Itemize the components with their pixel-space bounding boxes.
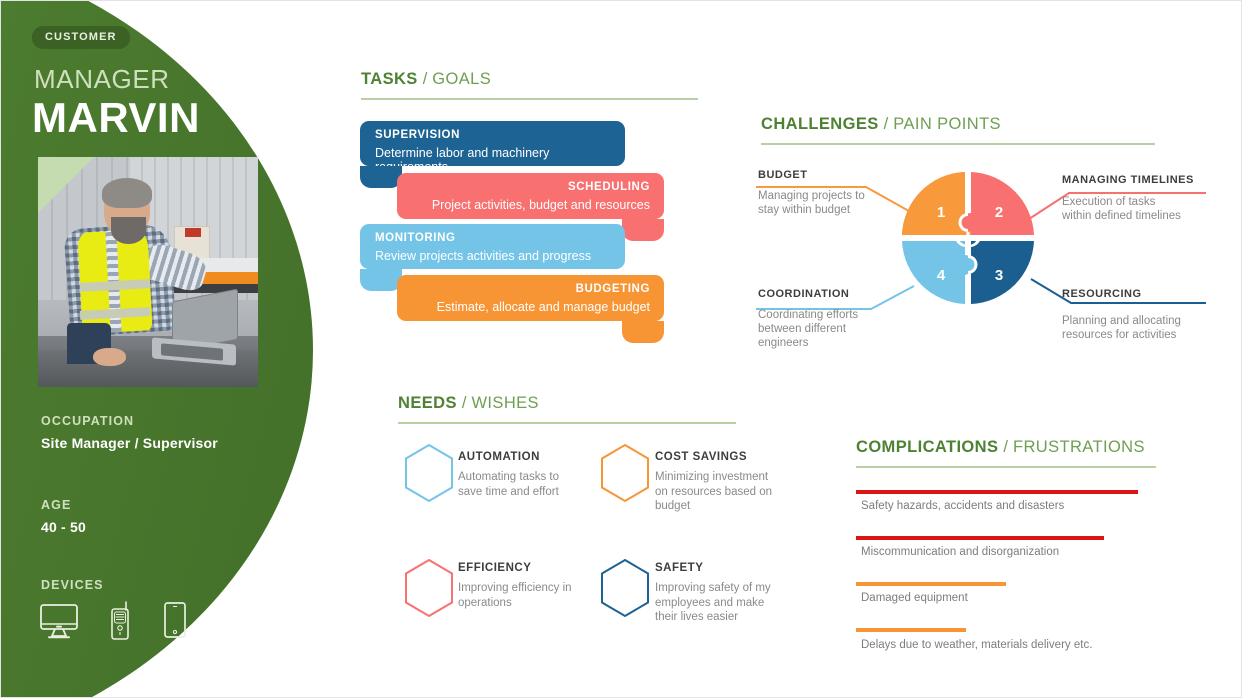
efficiency-hexagon-icon bbox=[403, 558, 455, 618]
challenge-desc-coordination: Coordinating efforts between different e… bbox=[758, 308, 878, 350]
need-desc-automation: Automating tasks to save time and effort bbox=[458, 470, 570, 499]
frustration-label: Miscommunication and disorganization bbox=[861, 546, 1059, 558]
task-ribbon-tail bbox=[622, 219, 664, 241]
challenge-label-coordination: COORDINATION bbox=[758, 288, 849, 300]
complications-heading-word2: FRUSTRATIONS bbox=[1013, 438, 1145, 456]
devices-label: DEVICES bbox=[41, 578, 104, 592]
task-desc: Project activities, budget and resources bbox=[432, 198, 650, 212]
challenges-heading-word2: PAIN POINTS bbox=[893, 115, 1001, 133]
svg-text:2: 2 bbox=[995, 204, 1003, 221]
persona-page: CUSTOMER MANAGER MARVIN bbox=[0, 0, 1242, 698]
challenges-heading: CHALLENGES/PAIN POINTS bbox=[761, 115, 1001, 134]
task-ribbon-tail bbox=[622, 321, 664, 343]
frustration-label: Damaged equipment bbox=[861, 592, 968, 604]
challenge-label-budget: BUDGET bbox=[758, 169, 807, 181]
complications-divider bbox=[856, 466, 1156, 468]
challenges-divider bbox=[761, 143, 1155, 145]
task-title: SCHEDULING bbox=[568, 181, 650, 193]
needs-heading-separator: / bbox=[462, 394, 467, 412]
age-value: 40 - 50 bbox=[41, 519, 86, 535]
cost-savings-hexagon-icon bbox=[599, 443, 651, 503]
task-desc: Determine labor and machinery requiremen… bbox=[375, 146, 625, 174]
task-ribbon-budgeting: BUDGETING Estimate, allocate and manage … bbox=[397, 275, 664, 321]
safety-hexagon-icon bbox=[599, 558, 651, 618]
needs-divider bbox=[398, 422, 736, 424]
walkie-talkie-icon bbox=[107, 601, 133, 641]
tasks-heading: TASKS/GOALS bbox=[361, 70, 491, 89]
tasks-heading-separator: / bbox=[423, 70, 428, 88]
svg-text:3: 3 bbox=[995, 267, 1003, 284]
need-desc-cost-savings: Minimizing investment on resources based… bbox=[655, 470, 779, 514]
challenges-puzzle-diagram: 1 2 3 4 bbox=[899, 169, 1037, 307]
persona-name: MARVIN bbox=[32, 94, 200, 142]
age-label: AGE bbox=[41, 498, 71, 512]
need-title-safety: SAFETY bbox=[655, 562, 703, 574]
occupation-label: OCCUPATION bbox=[41, 414, 134, 428]
task-title: MONITORING bbox=[375, 232, 456, 244]
automation-hexagon-icon bbox=[403, 443, 455, 503]
task-ribbon-tail bbox=[360, 269, 402, 291]
frustration-bar bbox=[856, 490, 1138, 494]
challenge-label-resourcing: RESOURCING bbox=[1062, 288, 1142, 300]
needs-heading-word2: WISHES bbox=[471, 394, 539, 412]
persona-sidebar: CUSTOMER MANAGER MARVIN bbox=[1, 1, 313, 698]
complications-heading-separator: / bbox=[1003, 438, 1008, 456]
frustration-label: Delays due to weather, materials deliver… bbox=[861, 639, 1092, 651]
svg-text:1: 1 bbox=[937, 204, 945, 221]
task-title: SUPERVISION bbox=[375, 129, 460, 141]
task-desc: Review projects activities and progress bbox=[375, 249, 591, 263]
photo-corner-accent bbox=[38, 157, 94, 213]
needs-heading: NEEDS/WISHES bbox=[398, 394, 539, 413]
need-desc-safety: Improving safety of my employees and mak… bbox=[655, 581, 777, 625]
persona-photo bbox=[38, 157, 258, 387]
occupation-value: Site Manager / Supervisor bbox=[41, 435, 218, 451]
challenges-heading-word1: CHALLENGES bbox=[761, 115, 879, 133]
need-desc-efficiency: Improving efficiency in operations bbox=[458, 581, 580, 610]
tasks-divider bbox=[361, 98, 698, 100]
needs-heading-word1: NEEDS bbox=[398, 394, 457, 412]
task-ribbon-monitoring: MONITORING Review projects activities an… bbox=[360, 224, 625, 269]
need-title-efficiency: EFFICIENCY bbox=[458, 562, 531, 574]
need-title-automation: AUTOMATION bbox=[458, 451, 540, 463]
customer-badge: CUSTOMER bbox=[32, 26, 130, 49]
task-ribbon-supervision: SUPERVISION Determine labor and machiner… bbox=[360, 121, 625, 166]
tasks-heading-word2: GOALS bbox=[432, 70, 491, 88]
devices-list bbox=[39, 601, 189, 641]
tablet-icon bbox=[161, 601, 189, 641]
task-title: BUDGETING bbox=[576, 283, 650, 295]
challenge-label-managing-timelines: MANAGING TIMELINES bbox=[1062, 174, 1194, 186]
task-ribbon-tail bbox=[360, 166, 402, 188]
challenge-desc-managing-timelines: Execution of tasks within defined timeli… bbox=[1062, 195, 1182, 223]
need-title-cost-savings: COST SAVINGS bbox=[655, 451, 747, 463]
desktop-monitor-icon bbox=[39, 603, 79, 641]
complications-heading-word1: COMPLICATIONS bbox=[856, 438, 998, 456]
frustration-bar bbox=[856, 628, 966, 632]
tasks-heading-word1: TASKS bbox=[361, 70, 418, 88]
challenge-desc-budget: Managing projects to stay within budget bbox=[758, 189, 888, 217]
persona-role-kicker: MANAGER bbox=[34, 64, 170, 95]
complications-heading: COMPLICATIONS/FRUSTRATIONS bbox=[856, 438, 1145, 457]
frustration-bar bbox=[856, 582, 1006, 586]
challenge-desc-resourcing: Planning and allocating resources for ac… bbox=[1062, 314, 1182, 342]
frustration-label: Safety hazards, accidents and disasters bbox=[861, 500, 1064, 512]
frustration-bar bbox=[856, 536, 1104, 540]
svg-text:4: 4 bbox=[937, 267, 946, 284]
task-ribbon-scheduling: SCHEDULING Project activities, budget an… bbox=[397, 173, 664, 219]
task-desc: Estimate, allocate and manage budget bbox=[437, 300, 650, 314]
challenges-heading-separator: / bbox=[884, 115, 889, 133]
